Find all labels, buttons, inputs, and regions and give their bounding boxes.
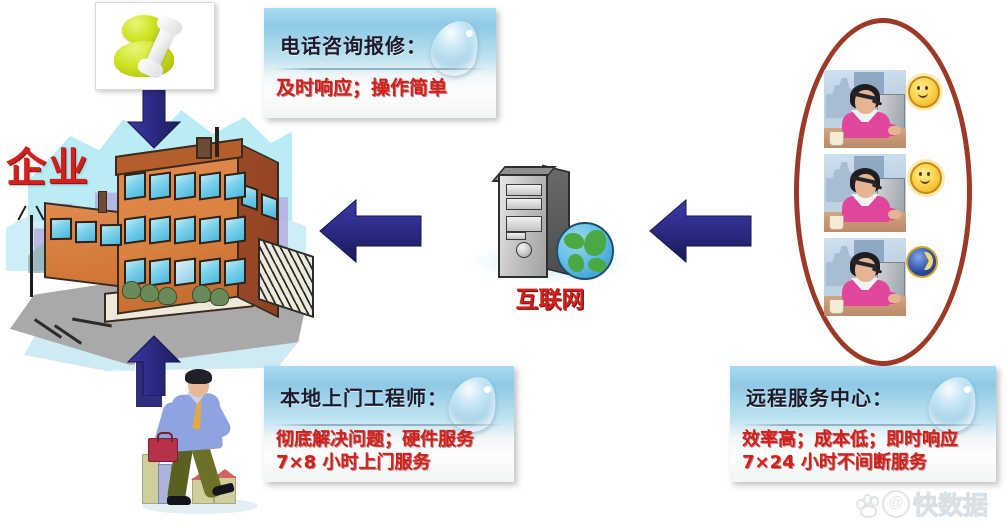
shrub	[210, 288, 229, 306]
globe-icon	[556, 222, 614, 280]
coffee-cup-icon	[829, 299, 844, 314]
power-button	[516, 242, 532, 258]
engineer-shoe	[167, 496, 191, 505]
operator-hand	[888, 294, 901, 303]
window	[199, 215, 221, 244]
roof-antenna	[215, 127, 219, 157]
arrow-internet-to-enterprise	[318, 198, 423, 266]
window	[100, 224, 122, 246]
callout-local-engineer[interactable]: 本地上门工程师： 彻底解决问题；硬件服务 7×8 小时上门服务	[264, 366, 514, 482]
server-tower-icon	[498, 174, 548, 278]
globe-landmass	[564, 233, 584, 249]
callout-phone-support[interactable]: 电话咨询报修： 及时响应；操作简单	[264, 8, 496, 118]
callout-remote-center[interactable]: 远程服务中心： 效率高；成本低；即时响应 7×24 小时不间断服务	[730, 366, 996, 482]
arrow-phone-to-enterprise	[126, 88, 182, 150]
sun-icon	[910, 162, 942, 194]
shrub	[158, 287, 177, 305]
sun-smile	[920, 177, 930, 184]
drive-bay	[506, 198, 542, 210]
phone-support-card[interactable]	[95, 2, 215, 90]
window	[224, 215, 246, 244]
roof-chimney	[196, 137, 212, 159]
operator-card-night	[824, 238, 906, 316]
shrub	[122, 281, 141, 299]
street-lamp	[30, 215, 33, 297]
diagram-canvas: 企业	[0, 0, 1007, 532]
callout-remote-line1: 效率高；成本低；即时响应	[742, 430, 958, 450]
operator-hand	[888, 126, 901, 135]
window	[75, 221, 97, 243]
internet-label: 互联网	[494, 280, 606, 314]
window-row-floor1	[124, 259, 246, 285]
enterprise-label: 企业	[6, 135, 90, 193]
callout-divider	[274, 68, 486, 70]
window	[199, 257, 221, 286]
window	[124, 171, 146, 200]
window	[224, 257, 246, 286]
water-droplet-icon	[924, 371, 982, 436]
coffee-cup-icon	[829, 131, 844, 146]
drive-bay	[506, 216, 542, 232]
globe-landmass	[584, 230, 606, 256]
shrub	[192, 285, 211, 303]
sun-eye	[919, 172, 922, 176]
arrow-remote-to-internet	[648, 198, 753, 266]
window	[174, 171, 196, 200]
operator-card-day	[824, 154, 906, 232]
operator-card-morning	[824, 70, 906, 148]
globe-landmass	[568, 254, 584, 272]
window	[174, 215, 196, 244]
window	[149, 215, 171, 244]
callout-local-line2: 7×8 小时上门服务	[276, 453, 430, 473]
watermark: @ 快数据	[855, 487, 1000, 521]
sun-icon	[908, 76, 940, 108]
sun-eye	[917, 86, 920, 90]
callout-local-title: 本地上门工程师：	[280, 382, 448, 411]
callout-phone-title: 电话咨询报修：	[280, 30, 427, 59]
shrub	[140, 284, 159, 302]
small-chimney	[98, 191, 107, 213]
remote-service-center-group	[788, 12, 970, 362]
globe-landmass	[588, 258, 606, 272]
sun-eye	[927, 172, 930, 176]
engineer-hair	[185, 369, 212, 384]
operator-hand	[888, 210, 901, 219]
window	[199, 171, 221, 200]
water-droplet-icon	[444, 371, 502, 436]
internet-node: 互联网	[470, 168, 630, 318]
sun-eye	[925, 86, 928, 90]
window	[149, 171, 171, 200]
window	[124, 215, 146, 244]
drive-bay	[506, 184, 542, 196]
window	[50, 218, 72, 240]
entrance-door	[174, 257, 196, 286]
callout-divider	[740, 424, 986, 426]
window-row-floor2	[124, 217, 246, 243]
callout-local-line1: 彻底解决问题；硬件服务	[276, 430, 474, 450]
callout-remote-line2: 7×24 小时不间断服务	[742, 453, 927, 473]
callout-remote-title: 远程服务中心：	[746, 382, 893, 411]
coffee-cup-icon	[829, 215, 844, 230]
arrow-engineer-to-enterprise	[126, 334, 182, 396]
moon-crescent	[918, 252, 933, 270]
watermark-text: 快数据	[913, 486, 988, 522]
water-droplet-icon	[426, 15, 484, 80]
callout-phone-body: 及时响应；操作简单	[276, 78, 447, 99]
window	[149, 257, 171, 286]
callout-divider	[274, 424, 504, 426]
at-sign-icon: @	[882, 490, 910, 518]
sun-smile	[918, 91, 928, 98]
moon-icon	[906, 246, 938, 278]
briefcase-icon	[148, 438, 178, 462]
drive-bay	[506, 232, 526, 240]
window-row-floor3	[124, 173, 246, 199]
window	[224, 171, 246, 200]
baidu-paw-icon	[855, 493, 879, 515]
